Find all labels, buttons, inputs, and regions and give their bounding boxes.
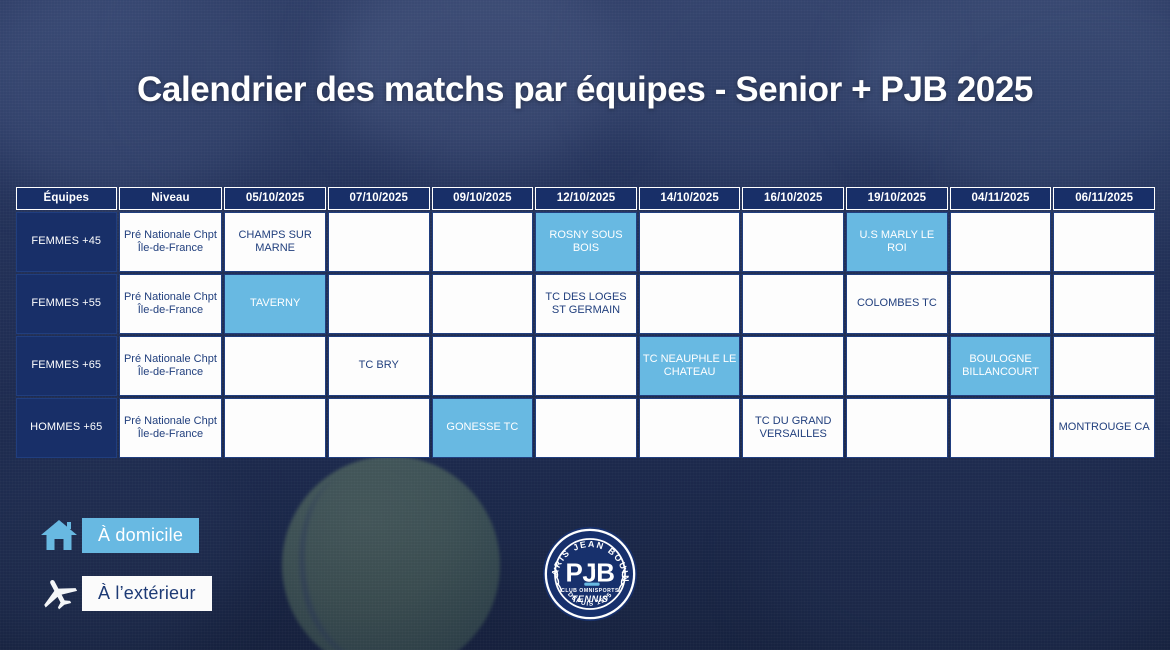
match-cell-away: MONTROUGE CA	[1053, 398, 1155, 458]
match-cell-away: COLOMBES TC	[846, 274, 948, 334]
match-cell-empty	[846, 398, 948, 458]
plane-icon	[36, 573, 82, 613]
match-cell-away: TC BRY	[328, 336, 430, 396]
pjb-tennis-logo: PARIS JEAN BOUIN DEPUIS 1905 PJB CLUB OM…	[542, 526, 638, 622]
legend-label-home: À domicile	[82, 518, 199, 553]
column-header-d4: 12/10/2025	[535, 187, 637, 210]
table-row: FEMMES +45Pré Nationale Chpt Île-de-Fran…	[16, 212, 1155, 272]
team-name-cell: FEMMES +55	[16, 274, 117, 334]
logo-subtitle: CLUB OMNISPORTS	[561, 588, 619, 594]
table-row: HOMMES +65Pré Nationale Chpt Île-de-Fran…	[16, 398, 1155, 458]
level-cell: Pré Nationale Chpt Île-de-France	[119, 398, 223, 458]
match-cell-empty	[328, 274, 430, 334]
table-body: FEMMES +45Pré Nationale Chpt Île-de-Fran…	[16, 212, 1155, 458]
column-header-team: Équipes	[16, 187, 117, 210]
match-cell-away: CHAMPS SUR MARNE	[224, 212, 326, 272]
match-cell-empty	[950, 398, 1052, 458]
team-name-cell: FEMMES +65	[16, 336, 117, 396]
column-header-d2: 07/10/2025	[328, 187, 430, 210]
column-header-d6: 16/10/2025	[742, 187, 844, 210]
match-cell-home: TC NEAUPHLE LE CHATEAU	[639, 336, 741, 396]
match-cell-empty	[328, 212, 430, 272]
column-header-level: Niveau	[119, 187, 223, 210]
logo-sport: TENNIS	[572, 594, 609, 604]
match-cell-empty	[328, 398, 430, 458]
match-cell-empty	[1053, 212, 1155, 272]
match-cell-empty	[535, 398, 637, 458]
level-cell: Pré Nationale Chpt Île-de-France	[119, 336, 223, 396]
table-row: FEMMES +65Pré Nationale Chpt Île-de-Fran…	[16, 336, 1155, 396]
match-cell-empty	[1053, 274, 1155, 334]
match-cell-empty	[742, 212, 844, 272]
match-cell-away: TC DU GRAND VERSAILLES	[742, 398, 844, 458]
match-cell-empty	[432, 274, 534, 334]
table-row: FEMMES +55Pré Nationale Chpt Île-de-Fran…	[16, 274, 1155, 334]
match-cell-empty	[639, 274, 741, 334]
column-header-d1: 05/10/2025	[224, 187, 326, 210]
match-cell-empty	[639, 212, 741, 272]
column-header-d9: 06/11/2025	[1053, 187, 1155, 210]
match-cell-empty	[950, 212, 1052, 272]
column-header-d3: 09/10/2025	[432, 187, 534, 210]
page-title: Calendrier des matchs par équipes - Seni…	[0, 70, 1170, 110]
match-cell-home: ROSNY SOUS BOIS	[535, 212, 637, 272]
legend: À domicile À l’extérieur	[36, 512, 336, 628]
match-cell-home: GONESSE TC	[432, 398, 534, 458]
match-cell-empty	[535, 336, 637, 396]
level-cell: Pré Nationale Chpt Île-de-France	[119, 212, 223, 272]
legend-item-away: À l’extérieur	[36, 570, 336, 616]
team-name-cell: FEMMES +45	[16, 212, 117, 272]
table-header: ÉquipesNiveau05/10/202507/10/202509/10/2…	[16, 187, 1155, 210]
match-cell-empty	[639, 398, 741, 458]
match-cell-home: U.S MARLY LE ROI	[846, 212, 948, 272]
match-cell-empty	[224, 336, 326, 396]
match-cell-empty	[846, 336, 948, 396]
match-cell-empty	[432, 212, 534, 272]
column-header-d8: 04/11/2025	[950, 187, 1052, 210]
match-cell-away: TC DES LOGES ST GERMAIN	[535, 274, 637, 334]
column-header-d7: 19/10/2025	[846, 187, 948, 210]
match-cell-empty	[1053, 336, 1155, 396]
match-cell-empty	[432, 336, 534, 396]
match-cell-empty	[742, 336, 844, 396]
team-name-cell: HOMMES +65	[16, 398, 117, 458]
match-schedule-table: ÉquipesNiveau05/10/202507/10/202509/10/2…	[14, 185, 1157, 460]
column-header-d5: 14/10/2025	[639, 187, 741, 210]
home-icon	[36, 515, 82, 555]
match-cell-empty	[742, 274, 844, 334]
match-cell-empty	[950, 274, 1052, 334]
match-cell-home: BOULOGNE BILLANCOURT	[950, 336, 1052, 396]
match-cell-empty	[224, 398, 326, 458]
legend-label-away: À l’extérieur	[82, 576, 212, 611]
table-header-row: ÉquipesNiveau05/10/202507/10/202509/10/2…	[16, 187, 1155, 210]
level-cell: Pré Nationale Chpt Île-de-France	[119, 274, 223, 334]
legend-item-home: À domicile	[36, 512, 336, 558]
match-cell-home: TAVERNY	[224, 274, 326, 334]
